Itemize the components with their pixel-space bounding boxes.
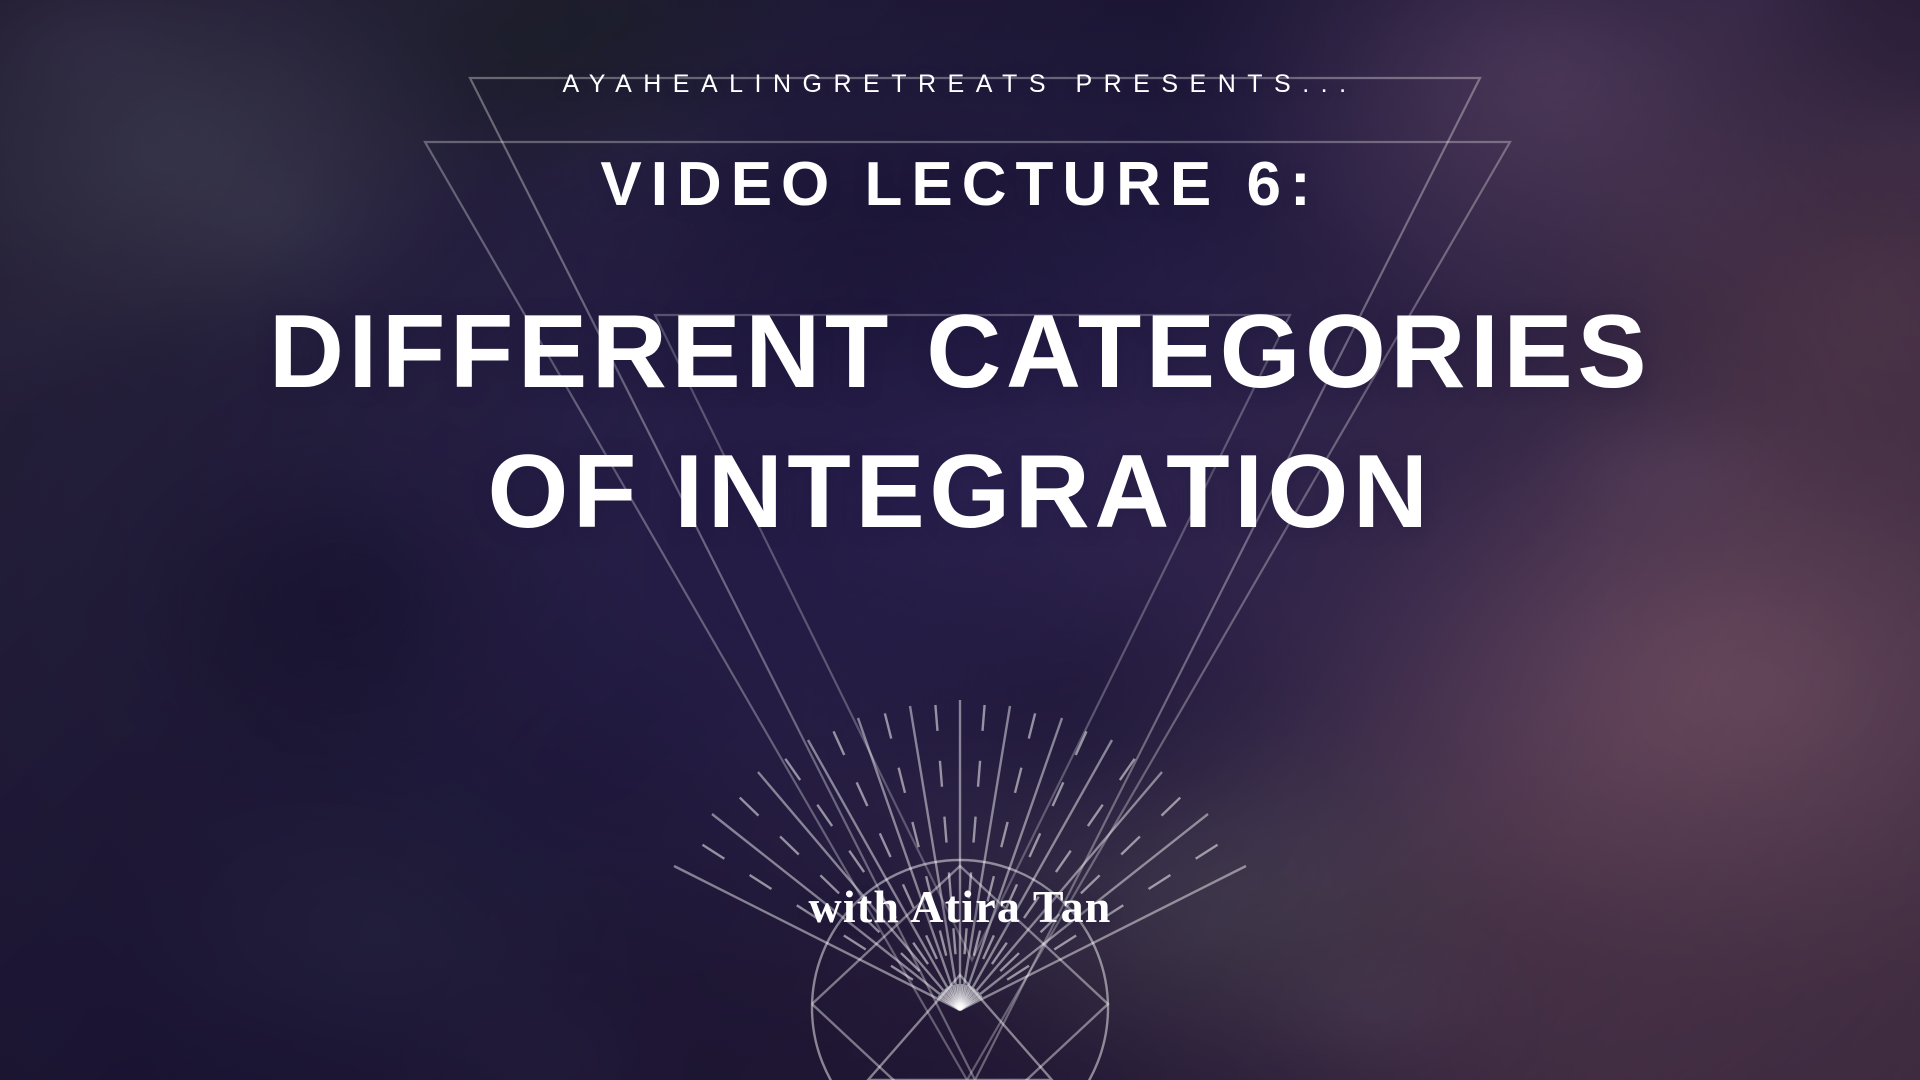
lecture-number-label: VIDEO LECTURE 6: <box>600 149 1319 220</box>
video-lecture-title-slide: AYAHEALINGRETREATS PRESENTS... VIDEO LEC… <box>0 0 1920 1080</box>
page-title-line-1: DIFFERENT CATEGORIES <box>269 282 1651 422</box>
presenter-eyebrow: AYAHEALINGRETREATS PRESENTS... <box>562 70 1357 99</box>
page-title-line-2: OF INTEGRATION <box>269 422 1651 562</box>
title-text-block: AYAHEALINGRETREATS PRESENTS... VIDEO LEC… <box>0 0 1920 1080</box>
presenter-byline: with Atira Tan <box>0 880 1920 933</box>
page-title: DIFFERENT CATEGORIES OF INTEGRATION <box>269 282 1651 563</box>
